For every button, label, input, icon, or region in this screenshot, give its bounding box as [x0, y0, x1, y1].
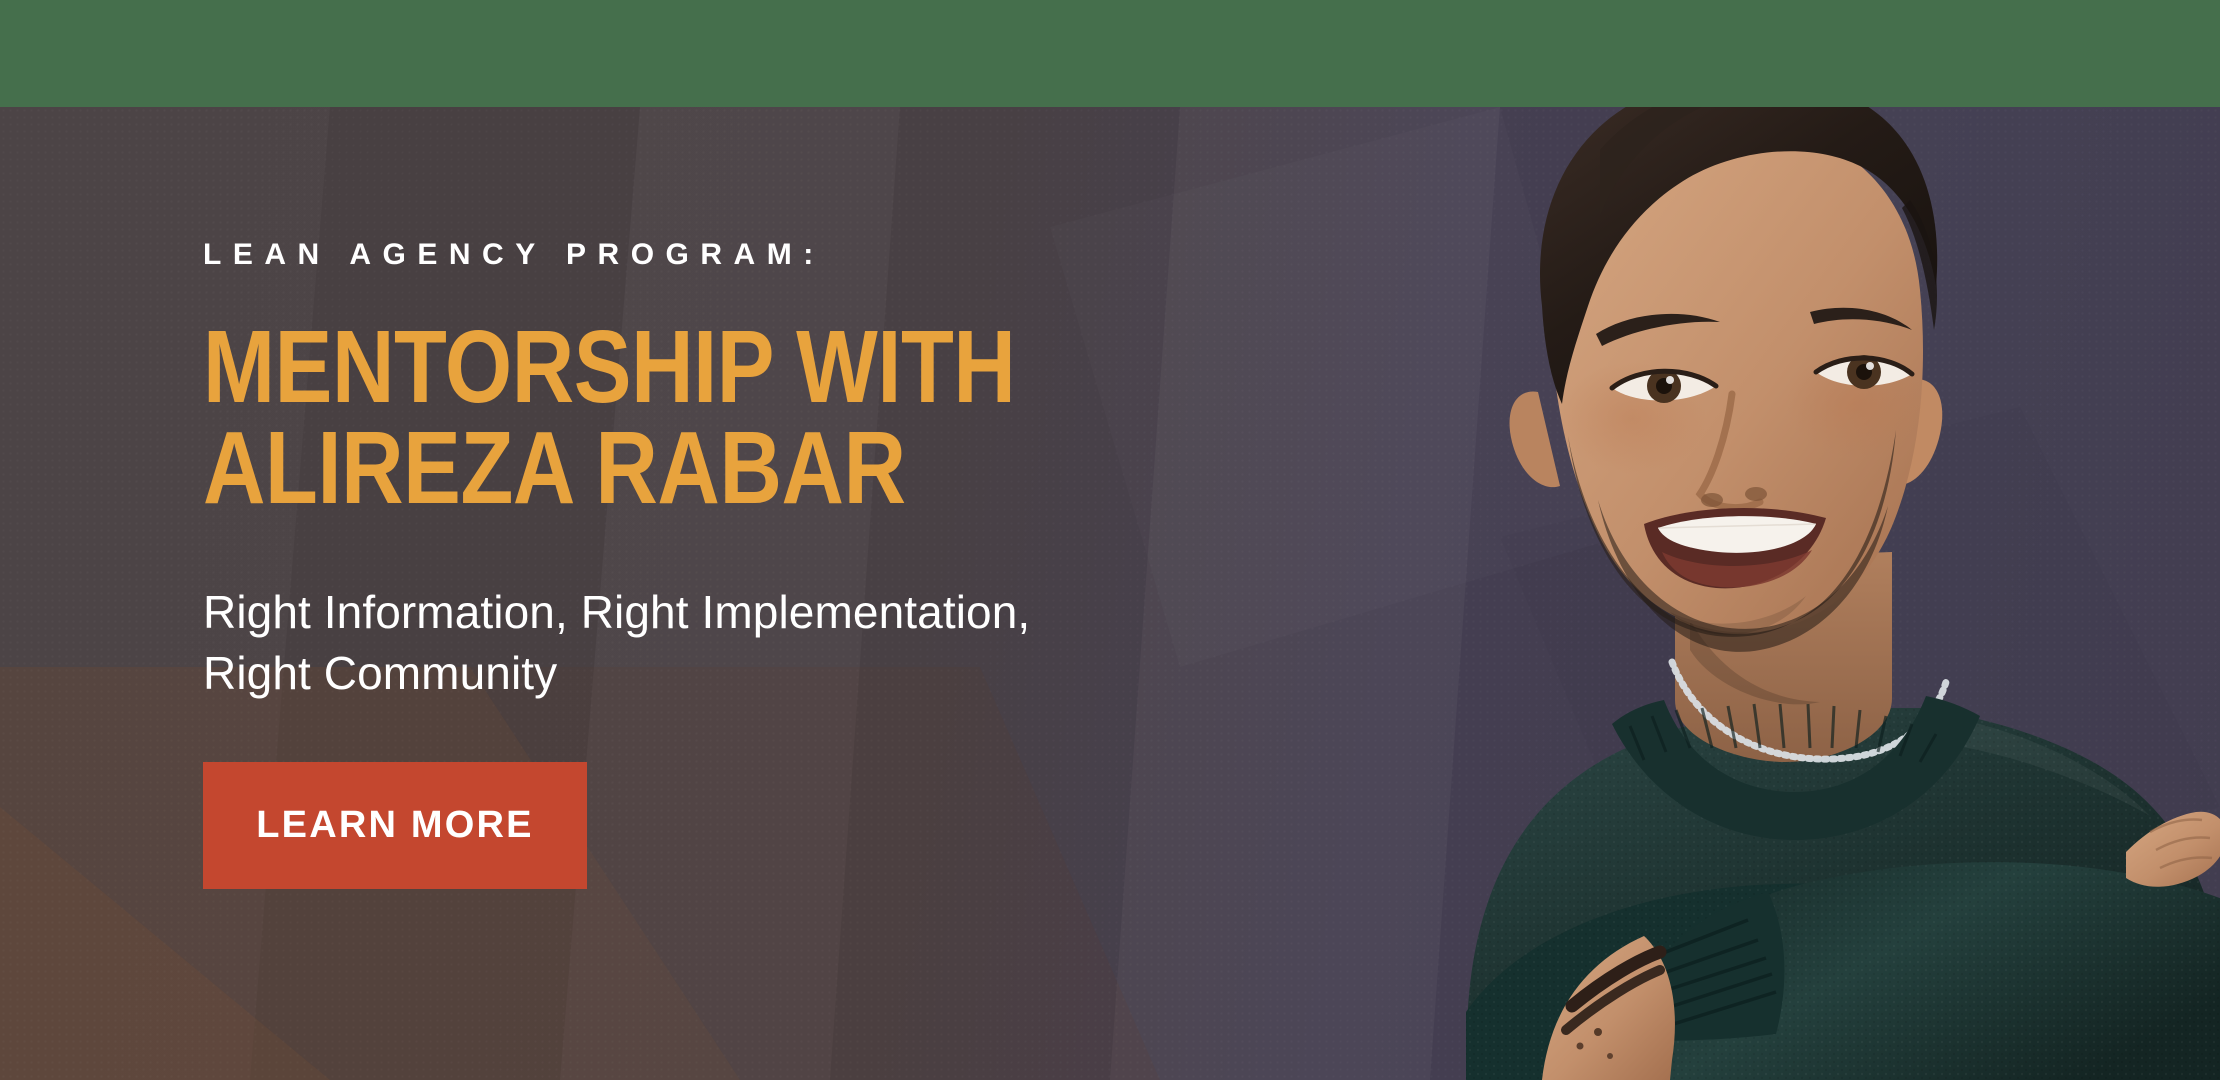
- subheadline-line-2: Right Community: [203, 643, 1313, 704]
- subheadline: Right Information, Right Implementation,…: [203, 582, 1313, 704]
- page-title: MENTORSHIP WITH ALIREZA RABAR: [203, 317, 1169, 519]
- promo-banner: LEAN AGENCY PROGRAM: MENTORSHIP WITH ALI…: [0, 0, 2220, 1080]
- eyebrow-label: LEAN AGENCY PROGRAM:: [203, 240, 1353, 270]
- learn-more-button[interactable]: LEARN MORE: [203, 762, 587, 889]
- top-accent-bar: [0, 0, 2220, 107]
- headline-line-2: ALIREZA RABAR: [203, 418, 1169, 519]
- subheadline-line-1: Right Information, Right Implementation,: [203, 582, 1313, 643]
- banner-copy: LEAN AGENCY PROGRAM: MENTORSHIP WITH ALI…: [203, 240, 1353, 889]
- headline-line-1: MENTORSHIP WITH: [203, 317, 1169, 418]
